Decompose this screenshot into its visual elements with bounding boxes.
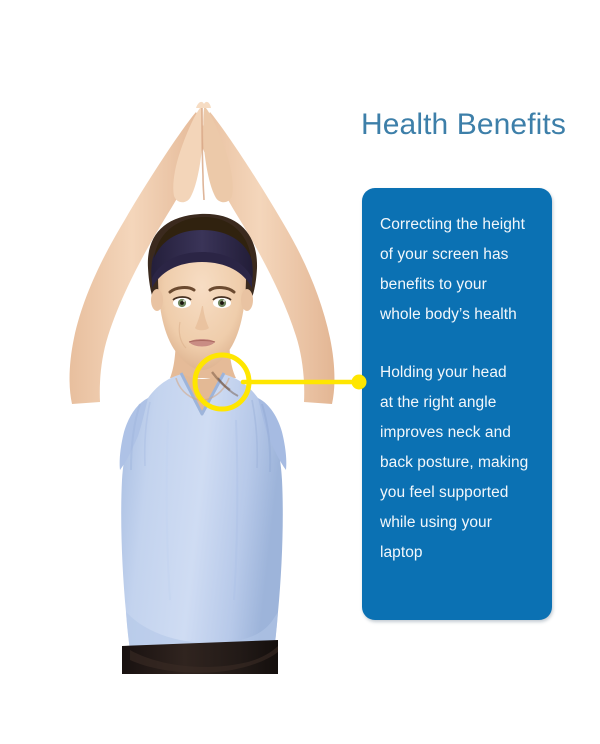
health-benefits-card: Correcting the height of your screen has…	[362, 188, 552, 620]
benefit-paragraph-screen-height: Correcting the height of your screen has…	[380, 210, 542, 330]
health-benefits-infographic: Health Benefits Correcting the height of…	[0, 0, 600, 744]
benefit-paragraph-head-angle: Holding your head at the right angle imp…	[380, 358, 542, 568]
page-title: Health Benefits	[361, 106, 581, 144]
tshirt	[120, 373, 287, 660]
subject-photo	[0, 0, 360, 674]
woman-yoga-pose-illustration	[0, 0, 360, 674]
card-content: Correcting the height of your screen has…	[380, 210, 542, 568]
